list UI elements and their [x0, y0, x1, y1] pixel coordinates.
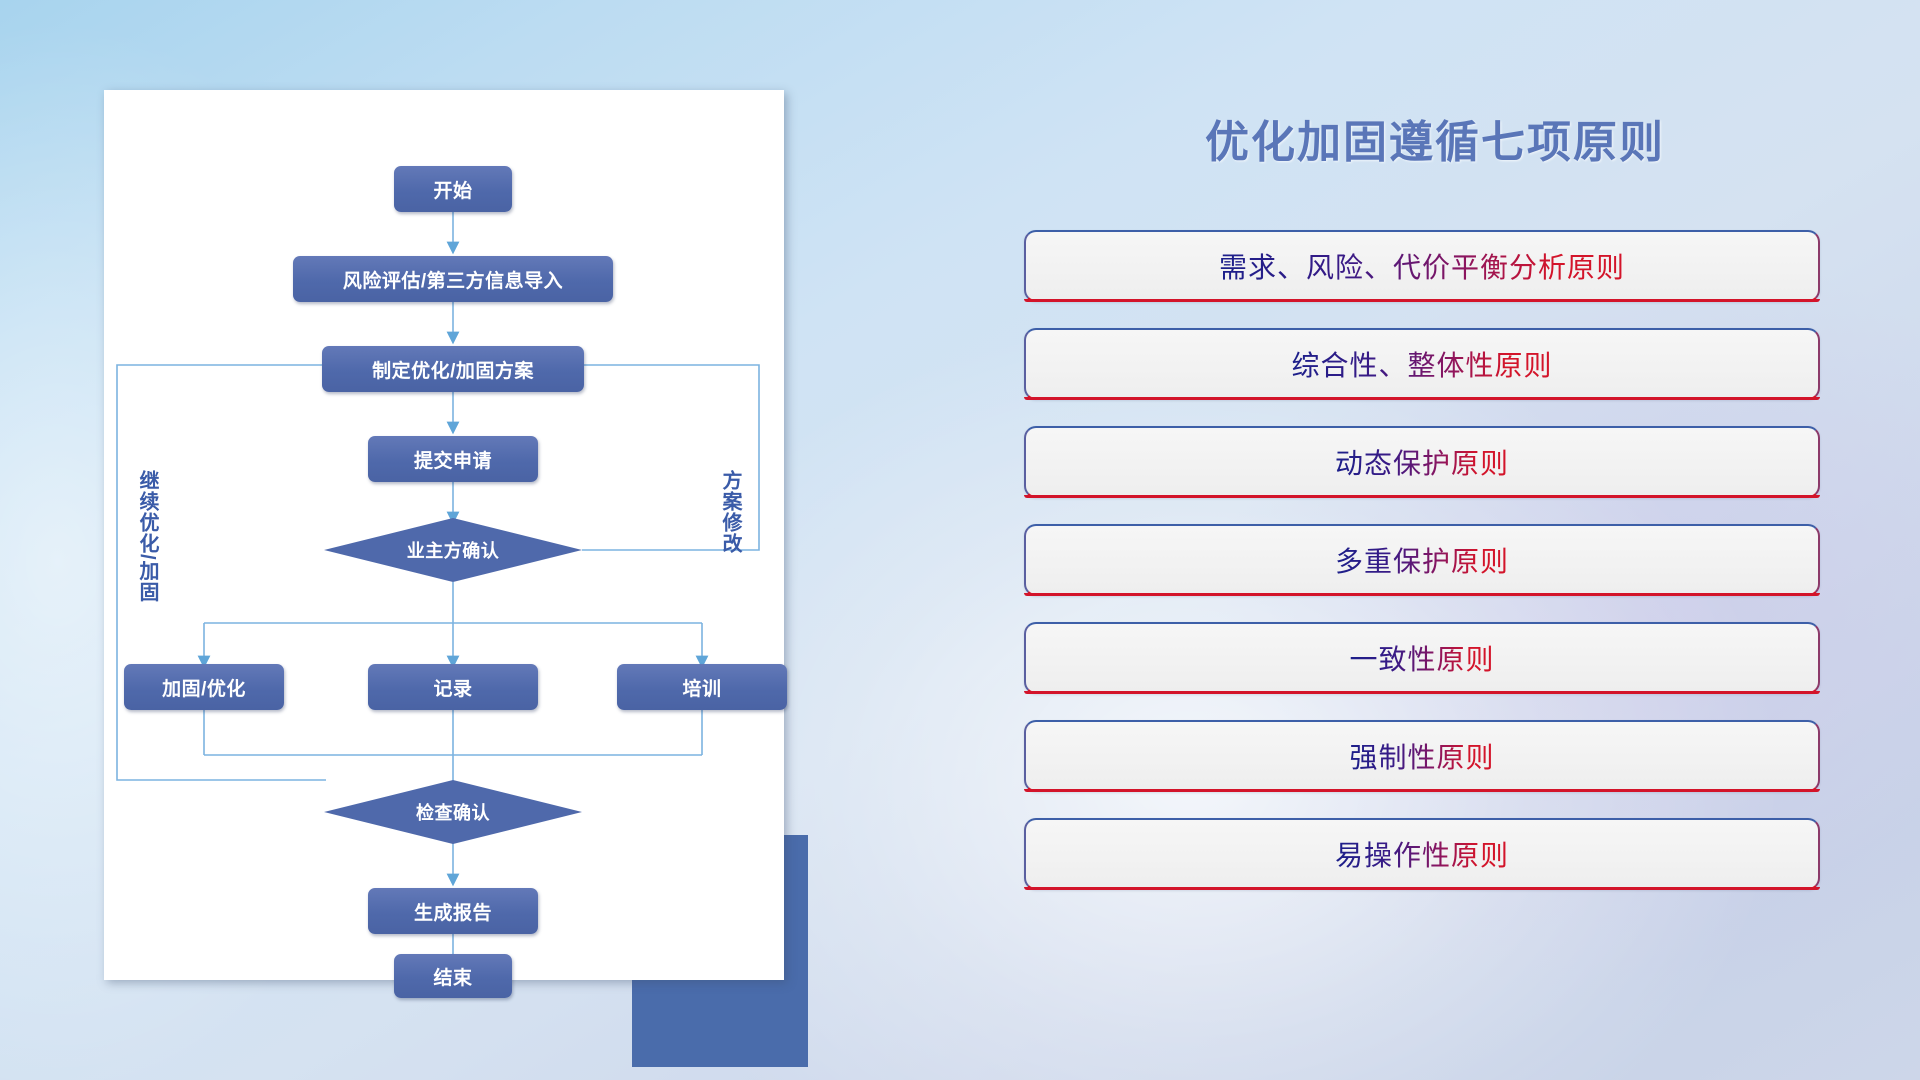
flowchart-panel: 开始 风险评估/第三方信息导入 制定优化/加固方案 提交申请 业主方确认 加固/… — [104, 90, 792, 980]
flow-node-reinforce[interactable]: 加固/优化 — [124, 664, 284, 710]
flow-node-submit-application[interactable]: 提交申请 — [368, 436, 538, 482]
principles-panel: 优化加固遵循七项原则 需求、风险、代价平衡分析原则 综合性、整体性原则 动态保护… — [1020, 86, 1850, 1016]
flow-node-plan[interactable]: 制定优化/加固方案 — [322, 346, 584, 392]
principle-label: 易操作性原则 — [1335, 834, 1509, 874]
principle-card[interactable]: 一致性原则 — [1024, 622, 1820, 694]
principle-card[interactable]: 易操作性原则 — [1024, 818, 1820, 890]
principles-list: 需求、风险、代价平衡分析原则 综合性、整体性原则 动态保护原则 多重保护原则 一… — [1024, 230, 1820, 890]
principle-label: 需求、风险、代价平衡分析原则 — [1219, 246, 1625, 286]
principle-card[interactable]: 多重保护原则 — [1024, 524, 1820, 596]
flow-node-risk-assessment[interactable]: 风险评估/第三方信息导入 — [293, 256, 613, 302]
principle-card[interactable]: 动态保护原则 — [1024, 426, 1820, 498]
flow-node-label: 培训 — [682, 674, 721, 701]
principle-label: 动态保护原则 — [1335, 442, 1509, 482]
principle-label: 综合性、整体性原则 — [1291, 344, 1552, 384]
loop-label-plan-revision: 方案修改 — [719, 470, 740, 554]
principle-label: 强制性原则 — [1349, 736, 1494, 776]
flow-node-label: 提交申请 — [414, 446, 492, 473]
flow-node-generate-report[interactable]: 生成报告 — [368, 888, 538, 934]
principle-card[interactable]: 综合性、整体性原则 — [1024, 328, 1820, 400]
flow-node-label: 检查确认 — [416, 799, 490, 825]
principle-card[interactable]: 强制性原则 — [1024, 720, 1820, 792]
loop-label-continue-optimize: 继续优化/加固 — [136, 470, 157, 603]
flow-node-label: 业主方确认 — [407, 537, 500, 563]
principle-card[interactable]: 需求、风险、代价平衡分析原则 — [1024, 230, 1820, 302]
flow-decision-owner-confirm[interactable]: 业主方确认 — [324, 518, 582, 582]
flow-node-start[interactable]: 开始 — [394, 166, 512, 212]
flow-node-label: 结束 — [433, 963, 472, 990]
principle-label: 多重保护原则 — [1335, 540, 1509, 580]
principle-label: 一致性原则 — [1349, 638, 1494, 678]
flow-node-training[interactable]: 培训 — [617, 664, 787, 710]
slide-canvas: 开始 风险评估/第三方信息导入 制定优化/加固方案 提交申请 业主方确认 加固/… — [0, 0, 1920, 1080]
flow-node-label: 加固/优化 — [162, 674, 246, 701]
flow-node-end[interactable]: 结束 — [394, 954, 512, 998]
flowchart-card: 开始 风险评估/第三方信息导入 制定优化/加固方案 提交申请 业主方确认 加固/… — [104, 90, 784, 980]
flow-node-label: 记录 — [433, 674, 472, 701]
panel-title: 优化加固遵循七项原则 — [1020, 106, 1850, 170]
flow-node-record[interactable]: 记录 — [368, 664, 538, 710]
flow-node-label: 风险评估/第三方信息导入 — [343, 266, 563, 293]
flow-node-label: 生成报告 — [414, 898, 492, 925]
flow-decision-check-confirm[interactable]: 检查确认 — [324, 780, 582, 844]
flow-node-label: 开始 — [433, 176, 472, 203]
flow-node-label: 制定优化/加固方案 — [372, 356, 534, 383]
